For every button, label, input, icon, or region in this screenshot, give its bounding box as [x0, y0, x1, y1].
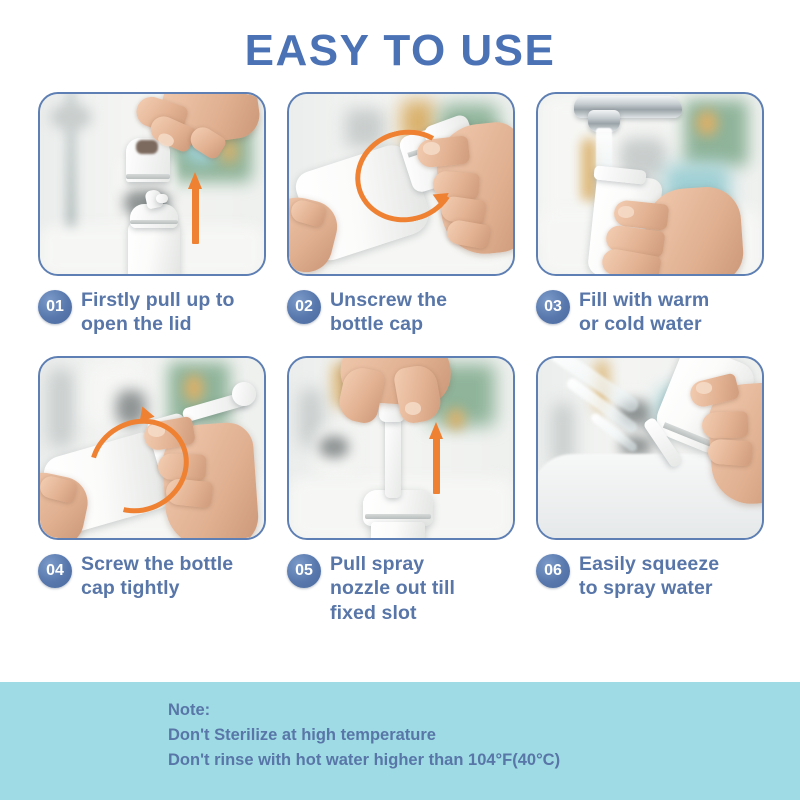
- page-title: EASY TO USE: [0, 26, 800, 76]
- step-text-line: Screw the bottle: [81, 552, 233, 576]
- step-card-05: 05 Pull spray nozzle out till fixed slot: [287, 356, 515, 625]
- scene-unscrew-cap: [289, 94, 513, 274]
- steps-grid: 01 Firstly pull up to open the lid: [38, 92, 764, 625]
- nozzle-head: [232, 382, 256, 406]
- step-caption-04: 04 Screw the bottle cap tightly: [38, 552, 266, 601]
- step-text-line: open the lid: [81, 312, 234, 336]
- steps-row-2: 04 Screw the bottle cap tightly: [38, 356, 764, 625]
- scene-hand-lifting-lid: [40, 94, 264, 274]
- step-text-line: cap tightly: [81, 576, 233, 600]
- step-text-line: Unscrew the: [330, 288, 447, 312]
- step-photo-06: [536, 356, 764, 540]
- step-caption-05: 05 Pull spray nozzle out till fixed slot: [287, 552, 515, 625]
- note-banner: Note: Don't Sterilize at high temperatur…: [0, 682, 800, 800]
- note-line-1: Don't Sterilize at high temperature: [168, 723, 560, 748]
- scene-fill-under-faucet: [538, 94, 762, 274]
- step-text-05: Pull spray nozzle out till fixed slot: [330, 552, 455, 625]
- step-text-line: Easily squeeze: [579, 552, 719, 576]
- up-arrow-icon: [429, 422, 444, 498]
- scene-screw-cap-tight: [40, 358, 264, 538]
- step-badge-03: 03: [536, 290, 570, 324]
- spray-nozzle-tube: [385, 414, 401, 498]
- step-caption-01: 01 Firstly pull up to open the lid: [38, 288, 266, 337]
- note-text-block: Note: Don't Sterilize at high temperatur…: [168, 698, 560, 773]
- step-photo-05: [287, 356, 515, 540]
- steps-row-1: 01 Firstly pull up to open the lid: [38, 92, 764, 337]
- step-card-06: 06 Easily squeeze to spray water: [536, 356, 764, 625]
- step-text-line: Fill with warm: [579, 288, 709, 312]
- scene-pull-nozzle: [289, 358, 513, 538]
- step-caption-02: 02 Unscrew the bottle cap: [287, 288, 515, 337]
- up-arrow-icon: [188, 172, 203, 246]
- step-badge-06: 06: [536, 554, 570, 588]
- step-photo-02: [287, 92, 515, 276]
- step-text-line: or cold water: [579, 312, 709, 336]
- scene-squeeze-spray: [538, 358, 762, 538]
- step-text-line: bottle cap: [330, 312, 447, 336]
- step-text-01: Firstly pull up to open the lid: [81, 288, 234, 337]
- step-caption-06: 06 Easily squeeze to spray water: [536, 552, 764, 601]
- step-badge-04: 04: [38, 554, 72, 588]
- step-badge-02: 02: [287, 290, 321, 324]
- bottle-body: [128, 222, 180, 274]
- step-text-04: Screw the bottle cap tightly: [81, 552, 233, 601]
- step-badge-01: 01: [38, 290, 72, 324]
- step-caption-03: 03 Fill with warm or cold water: [536, 288, 764, 337]
- step-text-line: to spray water: [579, 576, 719, 600]
- step-photo-03: [536, 92, 764, 276]
- step-text-line: fixed slot: [330, 601, 455, 625]
- easy-to-use-infographic: EASY TO USE: [0, 0, 800, 800]
- step-card-03: 03 Fill with warm or cold water: [536, 92, 764, 337]
- step-text-02: Unscrew the bottle cap: [330, 288, 447, 337]
- step-text-line: nozzle out till: [330, 576, 455, 600]
- step-badge-05: 05: [287, 554, 321, 588]
- step-card-01: 01 Firstly pull up to open the lid: [38, 92, 266, 337]
- step-card-04: 04 Screw the bottle cap tightly: [38, 356, 266, 625]
- note-line-2: Don't rinse with hot water higher than 1…: [168, 748, 560, 773]
- note-line-title: Note:: [168, 698, 560, 723]
- step-text-line: Firstly pull up to: [81, 288, 234, 312]
- step-photo-01: [38, 92, 266, 276]
- step-photo-04: [38, 356, 266, 540]
- step-text-line: Pull spray: [330, 552, 455, 576]
- step-card-02: 02 Unscrew the bottle cap: [287, 92, 515, 337]
- step-text-03: Fill with warm or cold water: [579, 288, 709, 337]
- step-text-06: Easily squeeze to spray water: [579, 552, 719, 601]
